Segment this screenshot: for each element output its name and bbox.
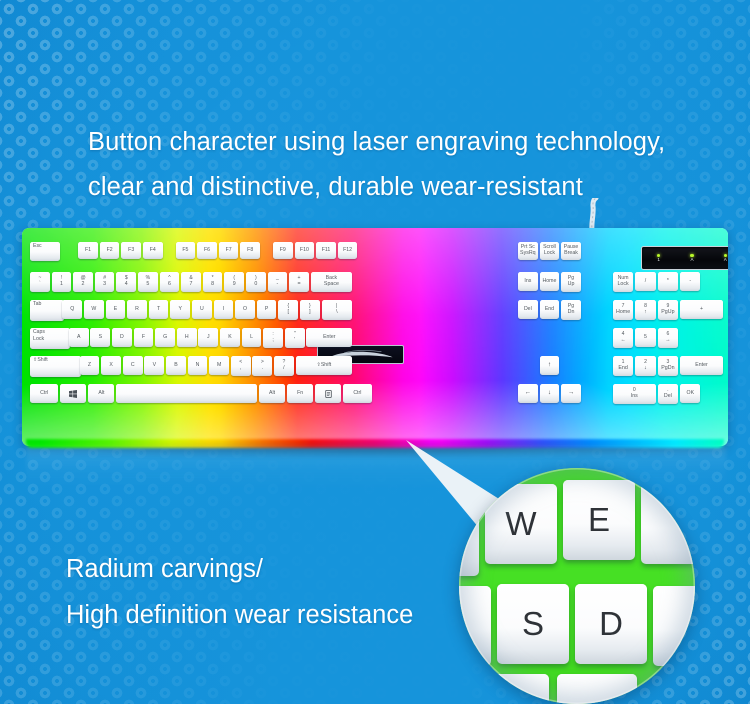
numpad-key-3-pgdn[interactable]: 3PgDn [658,356,678,376]
numpad-key-enter[interactable]: Enter [680,356,723,375]
key-f11[interactable]: F11 [316,242,336,259]
key-6[interactable]: ^6 [160,272,180,292]
key-pause-break[interactable]: PauseBreak [561,242,581,260]
key-legend-top: 9 [666,304,669,309]
key-legend: / [645,279,646,284]
key-legend-top: < [239,360,242,365]
key-p[interactable]: P [257,300,277,319]
key-t[interactable]: T [149,300,169,319]
key-k[interactable]: K [220,328,240,347]
mag-key-z [469,674,549,704]
key-pg-up[interactable]: PgUp [561,272,581,292]
key-legend: V [153,363,156,368]
key-legend: F1 [85,248,91,253]
key-legend: OK [687,391,695,396]
key-legend-bottom: Lock [617,282,628,288]
key-legend-bottom: SysRq [520,251,536,257]
usb-cable [580,198,604,232]
key-x[interactable]: X [101,356,121,375]
key-legend-top: Num [618,276,629,281]
headline-line-2: clear and distinctive, durable wear-resi… [88,165,748,210]
key-legend-top: ~ [38,276,41,281]
led-num-lock-label: 1 [657,258,660,263]
key-legend: F3 [128,248,134,253]
key-legend: Y [179,307,182,312]
key-key[interactable]: ~` [30,272,50,292]
key-legend: → [568,390,574,397]
key-legend: ↓ [548,390,551,397]
numpad-key-6[interactable]: 6→ [658,328,678,348]
key-legend-bottom: Lock [544,251,555,257]
key-legend: T [157,307,160,312]
key-legend-bottom: , [240,366,241,372]
key-legend-bottom: End [618,366,627,372]
key-h[interactable]: H [177,328,197,347]
numpad-key-ok[interactable]: OK [680,384,700,403]
key-legend-top: Caps [33,330,45,335]
key-legend: ← [525,390,531,397]
key-legend: W [91,307,96,312]
key-legend-top: . [667,388,668,393]
numpad-key-key[interactable]: / [635,272,655,291]
led-num-lock: 1 [648,254,670,263]
key-legend-top: ) [255,276,257,281]
numpad-key-key[interactable]: - [680,272,700,291]
key-n[interactable]: N [188,356,208,375]
key-legend-top: # [103,276,106,281]
key-legend-top: @ [80,276,85,281]
key-legend-top: + [298,276,301,281]
key-7[interactable]: &7 [181,272,201,292]
key-legend-bottom: 4 [125,282,128,288]
key-legend: F12 [343,248,352,253]
windows-icon [69,390,77,398]
key-legend: 5 [644,335,647,340]
numpad-key-4[interactable]: 4← [613,328,633,348]
key-legend-bottom: PgDn [661,366,674,372]
mag-key-e: E [563,480,635,560]
headline-line-1: Button character using laser engraving t… [88,128,665,156]
key-i[interactable]: I [214,300,234,319]
numpad-key-key[interactable]: + [680,300,723,319]
key-2[interactable]: @2 [73,272,93,292]
mag-key-a: A [459,586,491,666]
key-4[interactable]: $4 [116,272,136,292]
key-w[interactable]: W [84,300,104,319]
subline-line-2: High definition wear resistance [66,592,506,638]
key-arrow-up[interactable]: ↑ [540,356,560,375]
key-end[interactable]: End [540,300,560,319]
key-semicolon[interactable]: :; [263,328,283,348]
key-legend: D [120,335,124,340]
numpad-key-7-home[interactable]: 7Home [613,300,633,320]
subline-text: Radium carvings/ High definition wear re… [66,546,506,638]
numpad-key-0-ins[interactable]: 0Ins [613,384,656,404]
key-legend-top: } [309,304,311,309]
key-backspace[interactable]: BackSpace [311,272,352,292]
key-legend: O [243,307,247,312]
key-del[interactable]: Del [518,300,538,319]
mag-key-x [557,674,637,704]
key-legend-bottom: = [297,282,300,288]
key-windows[interactable] [60,384,86,403]
key-legend: E [114,307,117,312]
key-u[interactable]: U [192,300,212,319]
numpad-key-2[interactable]: 2↓ [635,356,655,376]
key-f3[interactable]: F3 [121,242,141,259]
key-legend-bottom: Up [568,282,575,288]
key-legend: Alt [269,391,275,396]
key-legend: ⇧Shift [33,358,48,363]
key-legend: Fn [297,391,303,396]
key-legend-top: 4 [622,332,625,337]
key-key[interactable]: _- [268,272,288,292]
key-legend: U [200,307,204,312]
key-legend: Home [543,279,557,284]
product-banner: Button character using laser engraving t… [0,0,750,704]
key-legend-top: ? [283,360,286,365]
led-caps-lock: A [681,254,703,263]
key-ctrl-right[interactable]: Ctrl [343,384,371,403]
key-legend-top: ( [233,276,235,281]
key-legend-top: 7 [622,304,625,309]
key-legend-top: Prt Sc [521,245,535,250]
key-legend: F9 [280,248,286,253]
key-8[interactable]: *8 [203,272,223,292]
mag-key-q [459,496,479,576]
key-tab[interactable]: Tab [30,300,64,321]
key-f8[interactable]: F8 [240,242,260,259]
key-legend-bottom: ↑ [644,310,647,316]
key-legend-bottom: ; [272,338,273,344]
key-f10[interactable]: F10 [295,242,315,259]
mag-key-s: S [497,584,569,664]
key-space[interactable] [116,384,257,403]
key-shift-right[interactable]: ⇧Shift [296,356,352,375]
key-m[interactable]: M [209,356,229,375]
key-legend-top: 8 [644,304,647,309]
key-5[interactable]: %5 [138,272,158,292]
indicator-led-panel: 1 A A [641,246,728,270]
key-legend: * [667,279,669,284]
key-legend: + [700,307,703,312]
led-caps-lock-label: A [690,258,693,263]
key-f7[interactable]: F7 [219,242,239,259]
key-enter[interactable]: Enter [306,328,352,347]
key-legend-top: Pg [568,276,574,281]
key-legend: J [207,335,210,340]
key-legend: N [196,363,200,368]
key-legend-top: 0 [633,388,636,393]
key-legend: Ctrl [353,391,361,396]
key-caps-lock[interactable]: CapsLock [30,328,70,349]
key-legend: S [99,335,102,340]
key-arrow-right[interactable]: → [561,384,581,403]
mag-key-d: D [575,584,647,664]
key-legend-bottom: Lock [33,337,44,343]
key-f12[interactable]: F12 [338,242,358,259]
key-legend-top: ^ [168,276,170,281]
mag-key-r [641,484,695,564]
numpad-key-8[interactable]: 8↑ [635,300,655,320]
key-f9[interactable]: F9 [273,242,293,259]
key-legend: ⇧Shift [317,363,332,368]
key-f5[interactable]: F5 [176,242,196,259]
key-legend-bottom: 6 [168,282,171,288]
led-scroll-lock: A [714,254,728,263]
key-b[interactable]: B [166,356,186,375]
key-ins[interactable]: Ins [518,272,538,291]
numpad-key-1-end[interactable]: 1End [613,356,633,376]
key-backslash[interactable]: |\ [322,300,353,320]
key-legend-top: _ [276,276,279,281]
key-legend-bottom: ↓ [644,366,647,372]
key-f6[interactable]: F6 [197,242,217,259]
key-menu[interactable] [315,384,341,403]
numpad-key-num-lock[interactable]: NumLock [613,272,633,292]
menu-icon [325,390,332,398]
key-key[interactable]: += [289,272,309,292]
led-scroll-lock-label: A [724,258,727,263]
key-legend-bottom: Del [664,394,672,400]
key-ctrl-left[interactable]: Ctrl [30,384,58,403]
key-legend-bottom: / [283,366,284,372]
key-legend-top: 6 [666,332,669,337]
subline-line-1: Radium carvings/ [66,546,506,592]
key-legend: K [228,335,231,340]
key-q[interactable]: Q [62,300,82,319]
key-shift-left[interactable]: ⇧Shift [30,356,81,377]
key-z[interactable]: Z [80,356,100,375]
key-prt-sc-sysrq[interactable]: Prt ScSysRq [518,242,538,260]
key-legend-top: " [294,332,296,337]
key-legend-top: ! [61,276,62,281]
key-legend-bottom: PgUp [661,310,674,316]
key-legend-top: : [272,332,273,337]
key-legend-bottom: \ [336,310,337,316]
key-slash[interactable]: ?/ [274,356,294,376]
key-legend-bottom: Home [616,310,630,316]
key-legend: End [545,307,554,312]
numpad-key-5[interactable]: 5 [635,328,655,347]
key-alt-left[interactable]: Alt [88,384,114,403]
key-legend-bottom: Space [324,282,339,288]
key-legend: I [223,307,224,312]
key-legend-bottom: Break [564,251,578,257]
key-legend-bottom: → [665,338,670,344]
key-legend: F10 [300,248,309,253]
key-legend: Q [70,307,74,312]
key-e[interactable]: E [106,300,126,319]
key-legend: Ctrl [40,391,48,396]
key-a[interactable]: A [69,328,89,347]
key-legend-top: Pg [568,304,574,309]
key-legend-top: | [336,304,337,309]
key-legend: H [185,335,189,340]
key-legend-bottom: 2 [82,282,85,288]
key-legend-bottom: ` [39,282,41,288]
key-legend: X [109,363,112,368]
key-legend-bottom: . [262,366,263,372]
key-legend-bottom: 0 [254,282,257,288]
key-legend: Esc [33,244,42,249]
key-legend: Alt [98,391,104,396]
key-legend-bottom: 1 [60,282,63,288]
key-1[interactable]: !1 [52,272,72,292]
mag-key-w: W [485,484,557,564]
key-v[interactable]: V [144,356,164,375]
key-legend: R [135,307,139,312]
key-legend-top: Pause [564,245,578,250]
key-legend: Ins [524,279,531,284]
keyboard-body: 1 A A EscF1F2F3F4F5F6F7F8F9F10 [22,228,728,446]
key-legend: F7 [226,248,232,253]
key-alt-left[interactable]: Alt [259,384,285,403]
key-legend-top: 1 [622,360,625,365]
key-legend-bottom: 5 [146,282,149,288]
key-legend-top: * [212,276,214,281]
key-legend: Z [88,363,91,368]
key-r[interactable]: R [127,300,147,319]
key-legend-bottom: ← [620,338,625,344]
key-legend-bottom: ' [294,338,295,344]
key-legend: Del [524,307,532,312]
key-legend: Enter [323,335,335,340]
key-legend: Enter [695,363,707,368]
key-f4[interactable]: F4 [143,242,163,259]
key-legend: F4 [150,248,156,253]
key-c[interactable]: C [123,356,143,375]
key-legend: - [689,279,691,284]
key-pg-dn[interactable]: PgDn [561,300,581,320]
key-fn-right[interactable]: Fn [287,384,313,403]
key-esc[interactable]: Esc [30,242,60,261]
key-quote[interactable]: "' [285,328,305,348]
key-f1[interactable]: F1 [78,242,98,259]
key-legend-top: 3 [666,360,669,365]
key-0[interactable]: )0 [246,272,266,292]
key-legend: F5 [182,248,188,253]
key-g[interactable]: G [155,328,175,347]
key-period[interactable]: >. [252,356,272,376]
key-legend: G [163,335,167,340]
key-legend-top: Scroll [543,245,556,250]
key-scroll-lock[interactable]: ScrollLock [540,242,560,260]
key-legend-bottom: 3 [103,282,106,288]
key-legend-top: $ [125,276,128,281]
key-legend-top: { [287,304,289,309]
key-legend-bottom: Dn [568,310,575,316]
key-legend: F11 [322,248,331,253]
key-legend: F8 [247,248,253,253]
key-legend-bottom: [ [287,310,288,316]
key-s[interactable]: S [90,328,110,347]
key-home[interactable]: Home [540,272,560,291]
magnifier-closeup: W E A S D [459,468,695,704]
key-arrow-left[interactable]: ← [518,384,538,403]
key-l[interactable]: L [242,328,262,347]
keyboard[interactable]: 1 A A EscF1F2F3F4F5F6F7F8F9F10 [22,228,728,446]
key-legend-bottom: 8 [211,282,214,288]
key-3[interactable]: #3 [95,272,115,292]
numpad-key-9-pgup[interactable]: 9PgUp [658,300,678,320]
key-legend-top: % [146,276,151,281]
key-legend: F2 [107,248,113,253]
key-legend-bottom: Ins [631,394,638,400]
key-legend-top: & [189,276,192,281]
key-f[interactable]: F [134,328,154,347]
key-legend: A [77,335,80,340]
magnifier-content: W E A S D [459,468,695,704]
key-legend-top: Back [326,276,337,281]
key-y[interactable]: Y [170,300,190,319]
key-legend-bottom: - [277,282,279,288]
key-legend: L [250,335,253,340]
key-legend-top: > [261,360,264,365]
key-legend-bottom: 7 [190,282,193,288]
key-key[interactable]: {[ [278,300,298,320]
key-legend: Tab [33,302,41,307]
key-key[interactable]: }] [300,300,320,320]
headline-text: Button character using laser engraving t… [88,120,748,210]
key-legend-top: 2 [644,360,647,365]
key-legend: P [265,307,268,312]
mag-key-f [653,586,695,666]
key-legend: F6 [204,248,210,253]
key-legend-bottom: 9 [233,282,236,288]
key-legend-bottom: ] [309,310,310,316]
key-legend: ↑ [548,362,551,369]
key-legend: F [142,335,145,340]
key-j[interactable]: J [198,328,218,347]
key-o[interactable]: O [235,300,255,319]
key-legend: M [217,363,221,368]
numpad-key-key[interactable]: * [658,272,678,291]
key-f2[interactable]: F2 [100,242,120,259]
numpad-key-del[interactable]: .Del [658,384,678,404]
key-arrow-down[interactable]: ↓ [540,384,560,403]
key-legend: C [131,363,135,368]
key-d[interactable]: D [112,328,132,347]
key-legend: B [174,363,177,368]
key-9[interactable]: (9 [224,272,244,292]
key-comma[interactable]: <, [231,356,251,376]
